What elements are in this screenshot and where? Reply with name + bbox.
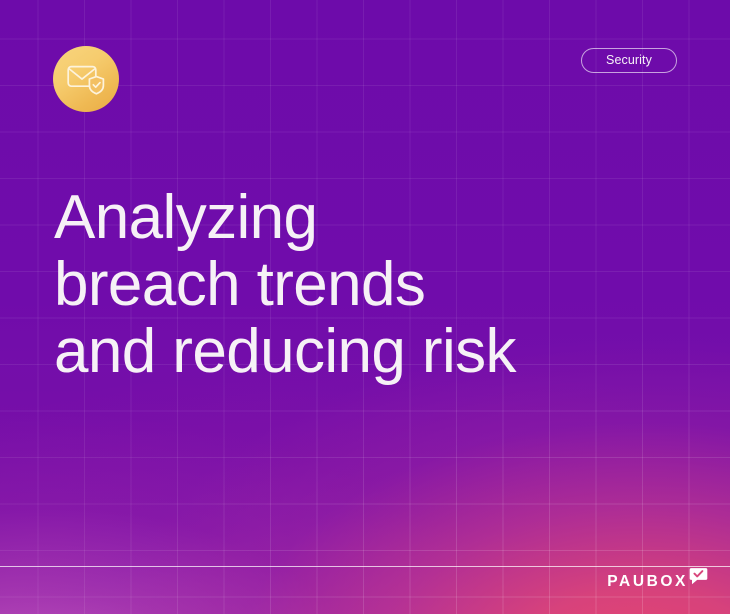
social-card: Security Analyzing breach trends and red…: [0, 0, 730, 614]
message-check-icon: [689, 567, 708, 586]
email-shield-icon: [66, 61, 106, 97]
paubox-wordmark: PAUBOX: [607, 572, 688, 592]
category-badge[interactable]: Security: [581, 48, 677, 73]
page-title: Analyzing breach trends and reducing ris…: [54, 184, 684, 385]
footer-divider: [0, 566, 730, 567]
category-badge-label: Security: [606, 54, 652, 67]
paubox-logo: PAUBOX: [607, 572, 708, 592]
email-shield-icon-badge: [53, 46, 119, 112]
